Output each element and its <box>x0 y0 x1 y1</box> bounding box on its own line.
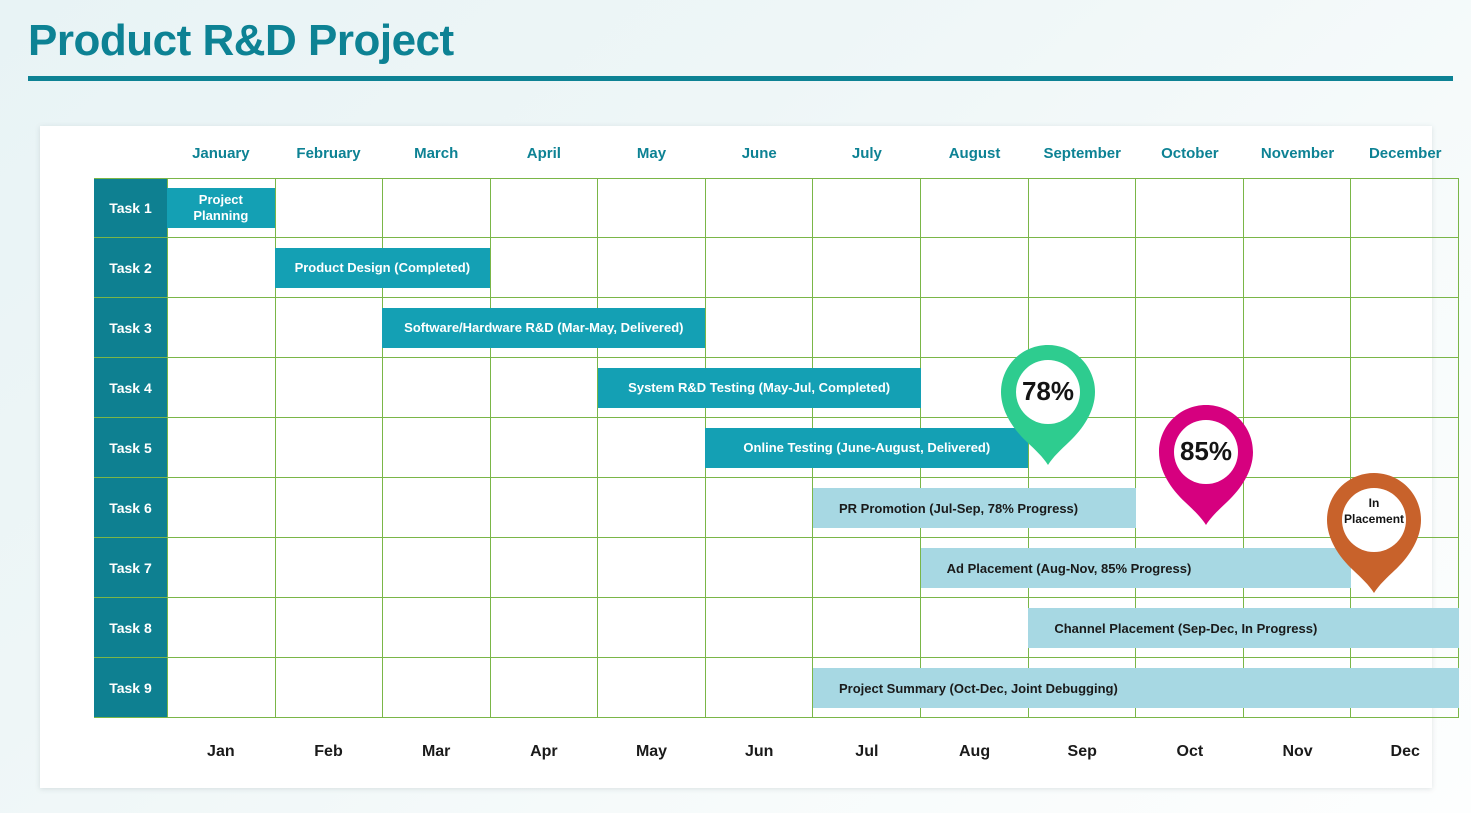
month-header-apr: April <box>490 136 598 172</box>
task-label-3: Task 3 <box>94 298 167 358</box>
grid-cell <box>1136 238 1244 298</box>
grid-cell <box>813 538 921 598</box>
axis-tick-aug: Aug <box>921 732 1029 772</box>
grid-cell <box>276 358 384 418</box>
gantt-bar-label: Ad Placement (Aug-Nov, 85% Progress) <box>947 561 1192 576</box>
gantt-bar-task-8[interactable]: Channel Placement (Sep-Dec, In Progress) <box>1028 608 1459 648</box>
grid-cell <box>167 418 276 478</box>
axis-tick-nov: Nov <box>1244 732 1352 772</box>
task-row[interactable]: Task 6 <box>94 478 1459 538</box>
axis-tick-apr: Apr <box>490 732 598 772</box>
gantt-bar-task-5[interactable]: Online Testing (June-August, Delivered) <box>705 428 1028 468</box>
grid-cell <box>491 658 599 718</box>
month-header-row: JanuaryFebruaryMarchAprilMayJuneJulyAugu… <box>167 136 1459 172</box>
gantt-bar-task-1[interactable]: ProjectPlanning <box>167 188 275 228</box>
gantt-bar-label-line2: Planning <box>193 208 248 224</box>
grid-cell <box>1351 358 1459 418</box>
title-underline-rule <box>28 76 1453 81</box>
grid-cell <box>167 478 276 538</box>
grid-cell <box>491 478 599 538</box>
axis-tick-jul: Jul <box>813 732 921 772</box>
grid-cell <box>167 658 276 718</box>
task-row-cells <box>167 178 1459 238</box>
grid-cell <box>598 178 706 238</box>
grid-cell <box>383 658 491 718</box>
grid-cell <box>1244 418 1352 478</box>
month-header-jun: June <box>705 136 813 172</box>
month-header-may: May <box>598 136 706 172</box>
month-header-aug: August <box>921 136 1029 172</box>
gantt-bar-task-4[interactable]: System R&D Testing (May-Jul, Completed) <box>598 368 921 408</box>
task-label-1: Task 1 <box>94 178 167 238</box>
gantt-bar-label-line1: Project <box>199 192 243 208</box>
grid-cell <box>167 358 276 418</box>
axis-tick-sep: Sep <box>1028 732 1136 772</box>
grid-cell <box>921 178 1029 238</box>
grid-cell <box>276 538 384 598</box>
grid-cell <box>491 598 599 658</box>
grid-cell <box>276 418 384 478</box>
grid-cell <box>276 298 384 358</box>
month-header-dec: December <box>1351 136 1459 172</box>
grid-cell <box>706 598 814 658</box>
grid-cell <box>598 658 706 718</box>
grid-cell <box>491 238 599 298</box>
gantt-bar-label: Channel Placement (Sep-Dec, In Progress) <box>1054 621 1317 636</box>
month-header-mar: March <box>382 136 490 172</box>
bottom-month-axis: JanFebMarAprMayJunJulAugSepOctNovDec <box>167 732 1459 772</box>
task-label-5: Task 5 <box>94 418 167 478</box>
grid-cell <box>491 178 599 238</box>
month-header-feb: February <box>275 136 383 172</box>
grid-cell <box>921 238 1029 298</box>
gantt-bar-task-7[interactable]: Ad Placement (Aug-Nov, 85% Progress) <box>921 548 1352 588</box>
gantt-grid-area: Task 1ProjectPlanningTask 2Product Desig… <box>94 178 1459 720</box>
task-row[interactable]: Task 3 <box>94 298 1459 358</box>
month-header-sep: September <box>1028 136 1136 172</box>
gantt-bar-label: Software/Hardware R&D (Mar-May, Delivere… <box>404 320 683 336</box>
grid-cell <box>167 598 276 658</box>
grid-cell <box>598 478 706 538</box>
month-header-oct: October <box>1136 136 1244 172</box>
grid-cell <box>1029 178 1137 238</box>
grid-cell <box>167 238 276 298</box>
axis-tick-dec: Dec <box>1351 732 1459 772</box>
grid-cell <box>706 478 814 538</box>
grid-cell <box>1351 298 1459 358</box>
grid-cell <box>1351 178 1459 238</box>
grid-cell <box>813 238 921 298</box>
task-row[interactable]: Task 1 <box>94 178 1459 238</box>
grid-cell <box>167 298 276 358</box>
grid-cell <box>598 238 706 298</box>
grid-cell <box>1244 238 1352 298</box>
axis-tick-jan: Jan <box>167 732 275 772</box>
grid-cell <box>706 178 814 238</box>
gantt-bar-label: Online Testing (June-August, Delivered) <box>743 440 990 456</box>
status-pin-in-placement[interactable]: InPlacement <box>1327 473 1421 593</box>
grid-cell <box>598 418 706 478</box>
gantt-bar-task-9[interactable]: Project Summary (Oct-Dec, Joint Debuggin… <box>813 668 1459 708</box>
grid-cell <box>1351 418 1459 478</box>
grid-cell <box>1244 178 1352 238</box>
gantt-bar-label: Project Summary (Oct-Dec, Joint Debuggin… <box>839 681 1118 696</box>
map-pin-icon <box>1001 345 1095 465</box>
grid-cell <box>276 658 384 718</box>
task-row-cells <box>167 298 1459 358</box>
grid-cell <box>383 178 491 238</box>
gantt-bar-label: PR Promotion (Jul-Sep, 78% Progress) <box>839 501 1078 516</box>
month-header-nov: November <box>1244 136 1352 172</box>
axis-tick-oct: Oct <box>1136 732 1244 772</box>
grid-cell <box>276 598 384 658</box>
grid-cell <box>383 418 491 478</box>
grid-cell <box>383 478 491 538</box>
grid-cell <box>383 358 491 418</box>
gantt-bar-task-3[interactable]: Software/Hardware R&D (Mar-May, Delivere… <box>382 308 705 348</box>
page-title: Product R&D Project <box>28 12 1453 70</box>
grid-cell <box>276 478 384 538</box>
grid-cell <box>598 598 706 658</box>
grid-cell <box>1136 298 1244 358</box>
task-label-6: Task 6 <box>94 478 167 538</box>
gantt-chart-card: JanuaryFebruaryMarchAprilMayJuneJulyAugu… <box>40 126 1432 788</box>
task-label-4: Task 4 <box>94 358 167 418</box>
task-label-9: Task 9 <box>94 658 167 718</box>
map-pin-icon <box>1159 405 1253 525</box>
grid-cell <box>383 598 491 658</box>
axis-tick-feb: Feb <box>275 732 383 772</box>
grid-cell <box>491 418 599 478</box>
task-label-7: Task 7 <box>94 538 167 598</box>
grid-cell <box>706 658 814 718</box>
grid-cell <box>383 538 491 598</box>
grid-cell <box>598 538 706 598</box>
grid-cell <box>706 538 814 598</box>
gantt-bar-task-2[interactable]: Product Design (Completed) <box>275 248 490 288</box>
grid-cell <box>1029 238 1137 298</box>
grid-cell <box>1244 298 1352 358</box>
grid-cell <box>491 358 599 418</box>
grid-cell <box>491 538 599 598</box>
grid-cell <box>1351 238 1459 298</box>
grid-cell <box>813 598 921 658</box>
month-header-jul: July <box>813 136 921 172</box>
axis-tick-may: May <box>598 732 706 772</box>
title-block: Product R&D Project <box>28 12 1453 81</box>
grid-cell <box>1136 178 1244 238</box>
grid-cell <box>167 538 276 598</box>
grid-cell <box>813 178 921 238</box>
map-pin-icon <box>1327 473 1421 593</box>
gantt-bar-label: System R&D Testing (May-Jul, Completed) <box>628 380 890 396</box>
grid-cell <box>813 298 921 358</box>
grid-cell <box>276 178 384 238</box>
month-header-jan: January <box>167 136 275 172</box>
task-label-2: Task 2 <box>94 238 167 298</box>
progress-pin-85[interactable]: 85% <box>1159 405 1253 525</box>
grid-cell <box>921 598 1029 658</box>
gantt-bar-label: Product Design (Completed) <box>295 260 471 276</box>
grid-cell <box>1244 358 1352 418</box>
progress-pin-78[interactable]: 78% <box>1001 345 1095 465</box>
axis-tick-jun: Jun <box>705 732 813 772</box>
task-label-8: Task 8 <box>94 598 167 658</box>
grid-cell <box>706 298 814 358</box>
axis-tick-mar: Mar <box>382 732 490 772</box>
grid-cell <box>706 238 814 298</box>
gantt-bar-task-6[interactable]: PR Promotion (Jul-Sep, 78% Progress) <box>813 488 1136 528</box>
